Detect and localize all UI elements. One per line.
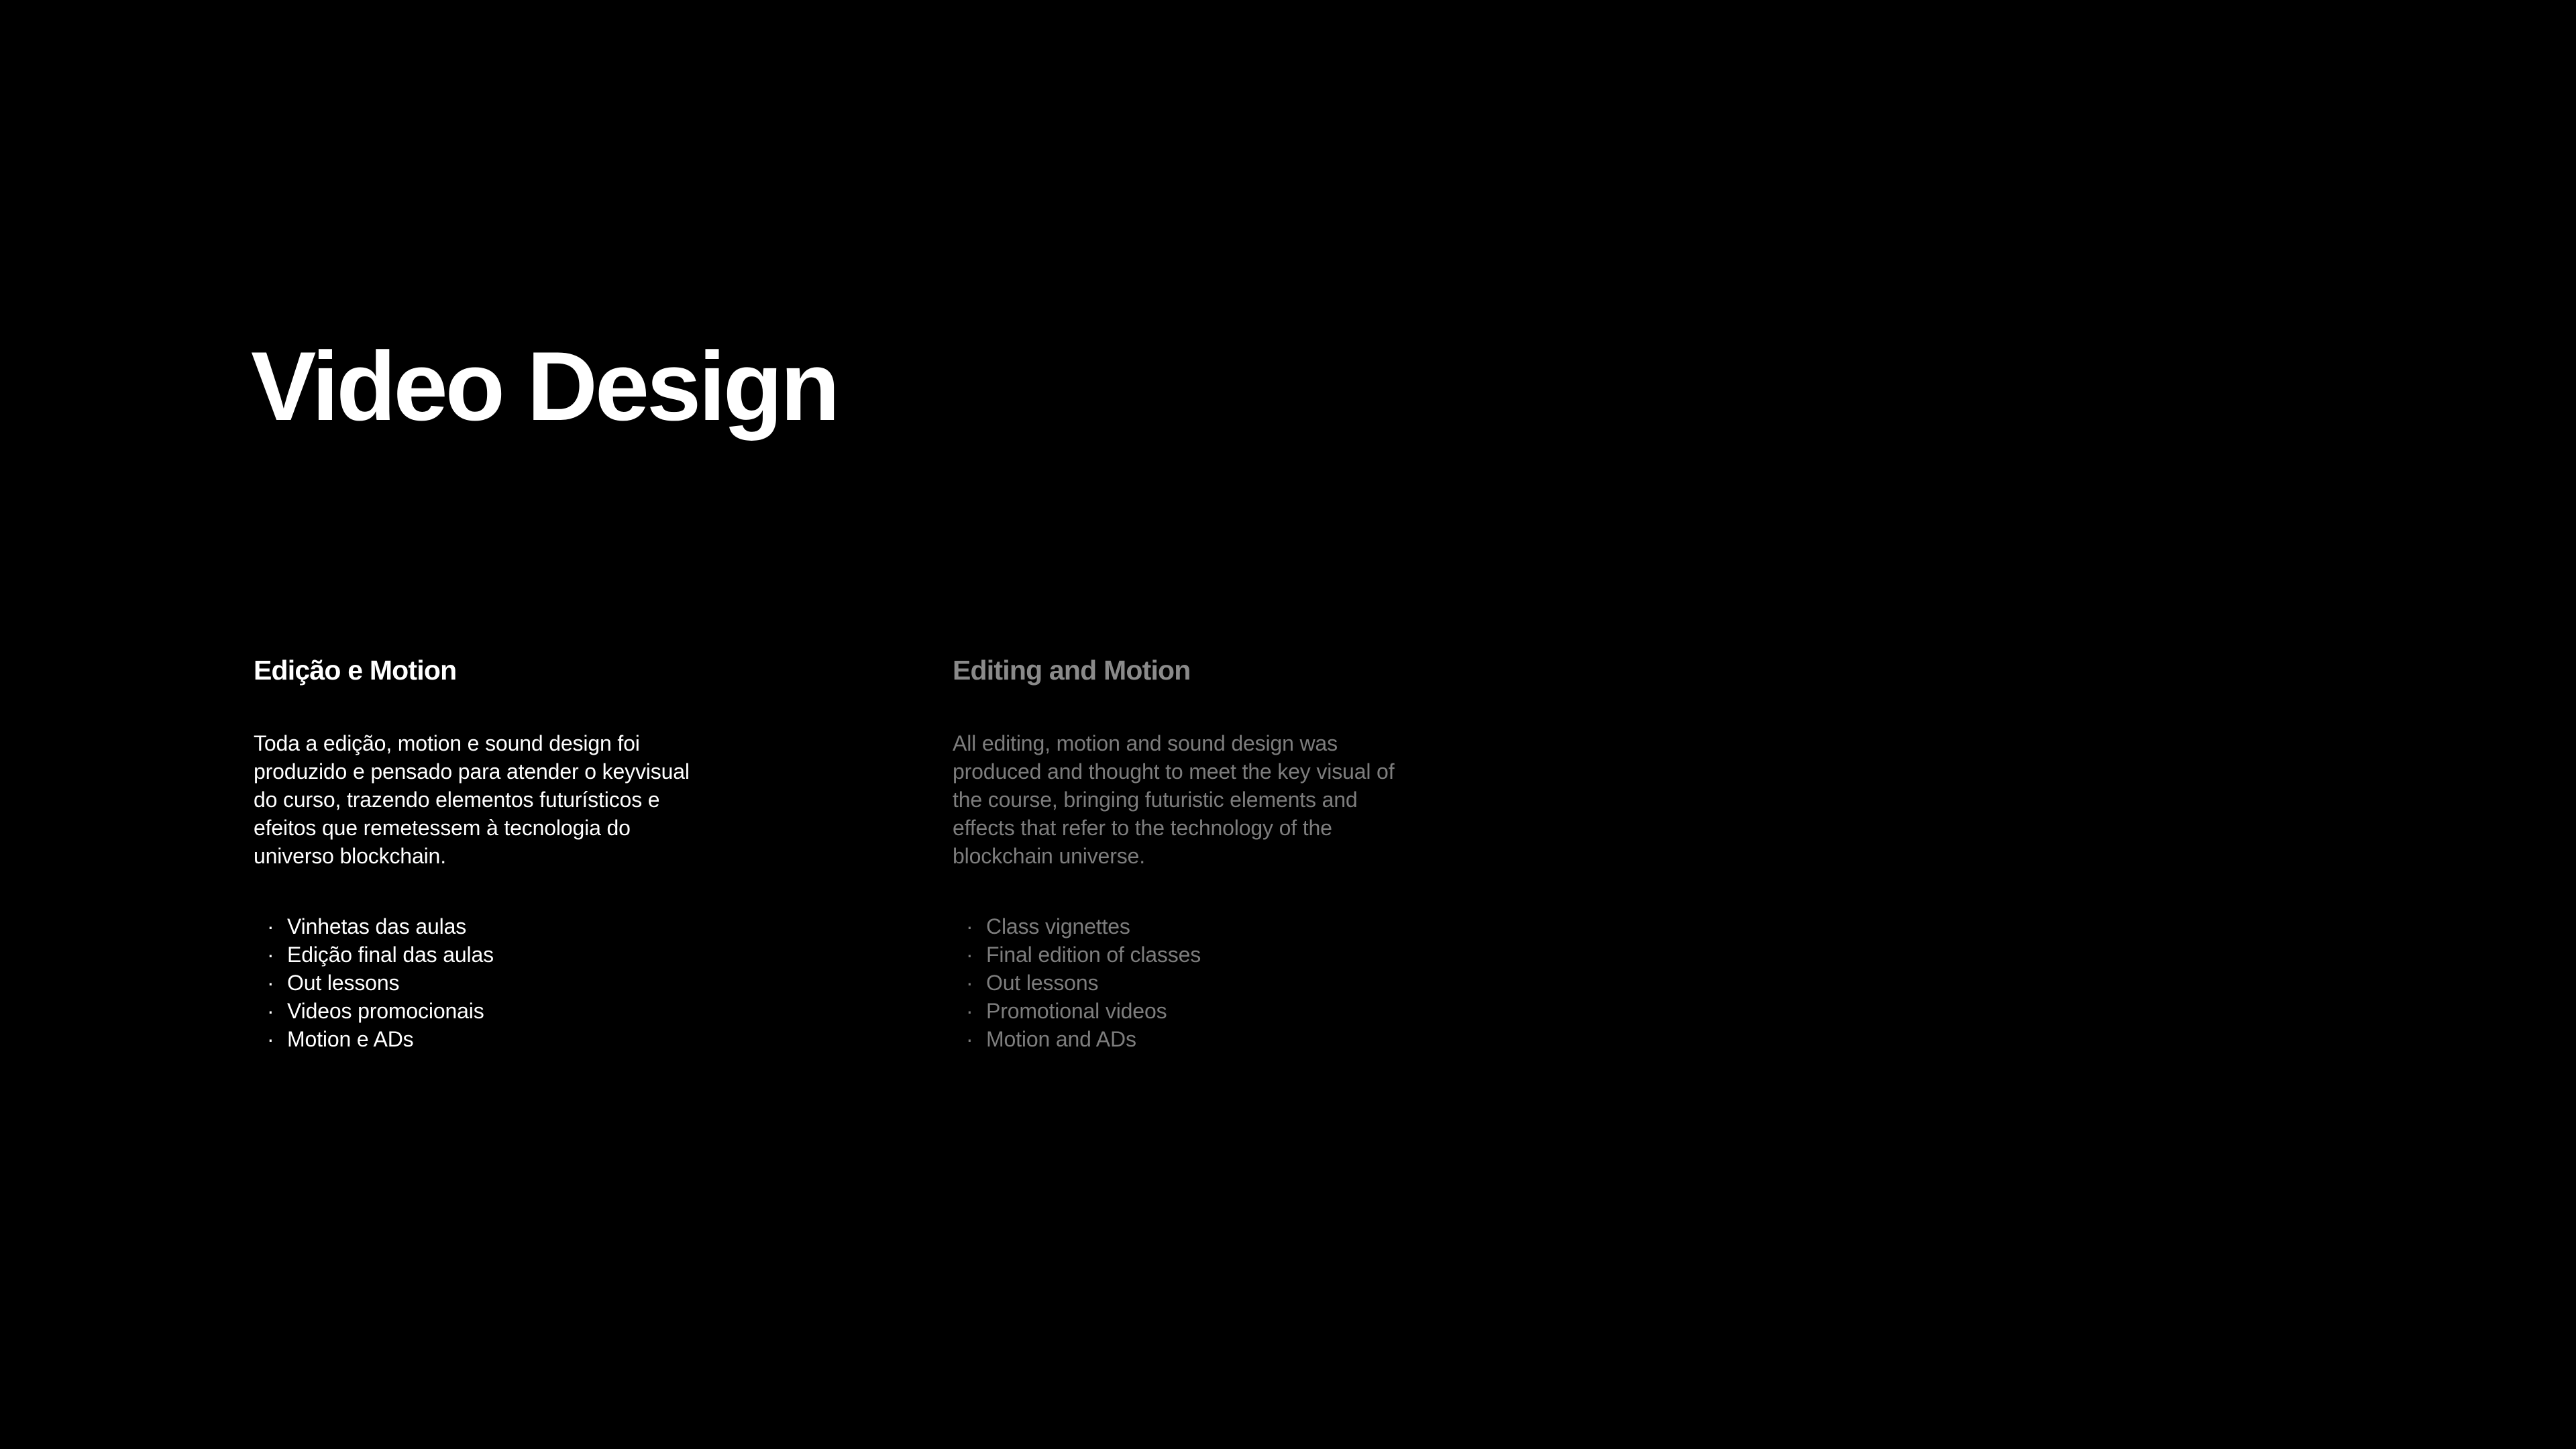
bullet-dot-icon: · <box>966 969 973 997</box>
list-item-label: Class vignettes <box>986 914 1130 938</box>
list-item: · Motion e ADs <box>254 1025 716 1053</box>
bullet-dot-icon: · <box>966 941 973 969</box>
list-item: · Vinhetas das aulas <box>254 912 716 941</box>
list-item: · Class vignettes <box>953 912 1415 941</box>
list-item-label: Edição final das aulas <box>287 943 494 967</box>
list-item: · Out lessons <box>953 969 1415 997</box>
bullet-dot-icon: · <box>966 997 973 1025</box>
list-item: · Motion and ADs <box>953 1025 1415 1053</box>
list-item: · Out lessons <box>254 969 716 997</box>
column-heading-portuguese: Edição e Motion <box>254 654 716 686</box>
list-item-label: Final edition of classes <box>986 943 1201 967</box>
list-item-label: Vinhetas das aulas <box>287 914 466 938</box>
list-item: · Videos promocionais <box>254 997 716 1025</box>
feature-list-english: · Class vignettes · Final edition of cla… <box>953 870 1415 1053</box>
bullet-dot-icon: · <box>966 912 973 941</box>
feature-list-portuguese: · Vinhetas das aulas · Edição final das … <box>254 870 716 1053</box>
list-item: · Promotional videos <box>953 997 1415 1025</box>
bullet-dot-icon: · <box>267 912 274 941</box>
bullet-dot-icon: · <box>267 997 274 1025</box>
column-paragraph-portuguese: Toda a edição, motion e sound design foi… <box>254 686 716 870</box>
list-item-label: Promotional videos <box>986 999 1167 1023</box>
bullet-dot-icon: · <box>267 1025 274 1053</box>
bullet-dot-icon: · <box>966 1025 973 1053</box>
page-title: Video Design <box>251 337 837 435</box>
list-item-label: Motion e ADs <box>287 1027 414 1051</box>
list-item-label: Out lessons <box>986 971 1098 995</box>
bilingual-columns: Edição e Motion Toda a edição, motion e … <box>254 654 2333 1053</box>
column-english: Editing and Motion All editing, motion a… <box>953 654 1415 1053</box>
list-item-label: Motion and ADs <box>986 1027 1136 1051</box>
list-item: · Final edition of classes <box>953 941 1415 969</box>
bullet-dot-icon: · <box>267 969 274 997</box>
column-heading-english: Editing and Motion <box>953 654 1415 686</box>
column-paragraph-english: All editing, motion and sound design was… <box>953 686 1415 870</box>
list-item: · Edição final das aulas <box>254 941 716 969</box>
bullet-dot-icon: · <box>267 941 274 969</box>
column-portuguese: Edição e Motion Toda a edição, motion e … <box>254 654 716 1053</box>
list-item-label: Out lessons <box>287 971 399 995</box>
list-item-label: Videos promocionais <box>287 999 484 1023</box>
slide-canvas: Video Design Edição e Motion Toda a ediç… <box>0 0 2576 1449</box>
